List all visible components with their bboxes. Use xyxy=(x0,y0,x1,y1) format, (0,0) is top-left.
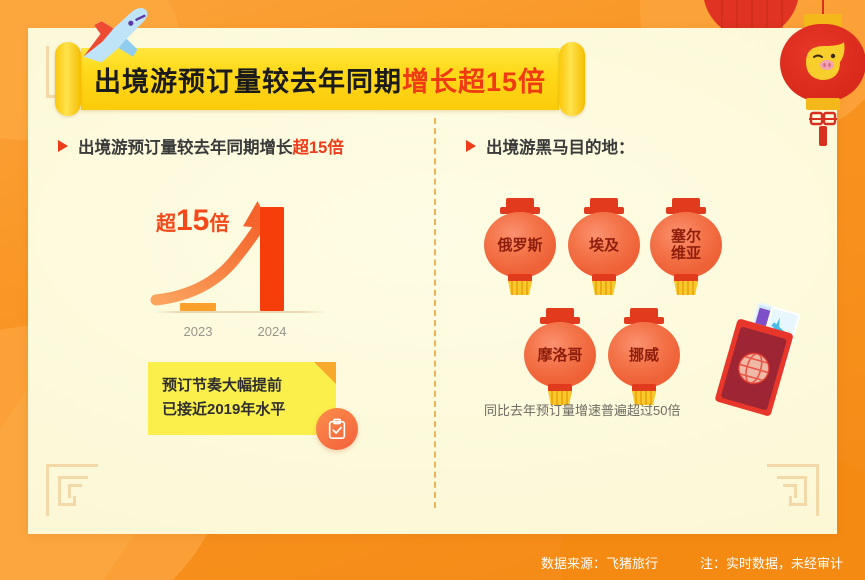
note-line-1: 预订节奏大幅提前 xyxy=(162,374,326,398)
note-line-2: 已接近2019年水平 xyxy=(162,398,326,422)
footer-source: 数据来源：飞猪旅行 xyxy=(541,553,658,572)
pig-mascot-icon xyxy=(800,40,850,84)
infographic-canvas: 出境游预订量较去年同期增长超15倍 xyxy=(0,0,865,580)
lantern-body: 埃及 xyxy=(568,212,640,278)
panel-divider xyxy=(434,118,436,508)
destination-label: 挪威 xyxy=(629,347,659,364)
corner-fret-ornament-icon xyxy=(757,454,819,516)
lantern-wire xyxy=(822,0,824,14)
lantern-base xyxy=(548,384,572,392)
chart-baseline xyxy=(154,311,326,313)
lantern-body: 俄罗斯 xyxy=(484,212,556,278)
title-text-black: 出境游预订量较去年同期 xyxy=(94,60,402,99)
corner-fret-ornament-icon xyxy=(46,454,108,516)
lantern-tassel xyxy=(819,126,827,146)
growth-annotation: 超15倍 xyxy=(156,206,229,236)
growth-bar-chart: 超15倍 2023 2024 xyxy=(150,196,330,341)
section-header-text: 出境游预订量较去年同期增长超15倍 xyxy=(78,134,344,158)
banner-roll-right xyxy=(559,42,585,116)
lantern-fringe xyxy=(674,281,698,295)
section-header-growth: 出境游预订量较去年同期增长超15倍 xyxy=(58,134,344,158)
xtick-label-2023: 2023 xyxy=(170,324,226,339)
section-header-text: 出境游黑马目的地： xyxy=(486,134,635,158)
lantern-body: 摩洛哥 xyxy=(524,322,596,388)
destination-label: 塞尔 维亚 xyxy=(671,228,701,262)
xtick-label-2024: 2024 xyxy=(244,324,300,339)
lantern-base xyxy=(674,274,698,282)
bar-2023 xyxy=(180,303,216,311)
destination-label: 埃及 xyxy=(589,237,619,254)
bar-2024 xyxy=(260,207,284,311)
destination-label: 俄罗斯 xyxy=(497,237,542,254)
section-header-destinations: 出境游黑马目的地： xyxy=(466,134,635,158)
note-text: 预订节奏大幅提前 已接近2019年水平 xyxy=(162,374,326,422)
destination-label: 摩洛哥 xyxy=(537,347,582,364)
lantern-base xyxy=(806,98,840,110)
clipboard-check-icon xyxy=(316,408,358,450)
lantern-body: 塞尔 维亚 xyxy=(650,212,722,278)
pig-mascot-lantern xyxy=(780,10,865,140)
footer-note: 注：实时数据，未经审计 xyxy=(700,553,843,572)
booking-pace-note: 预订节奏大幅提前 已接近2019年水平 xyxy=(148,362,336,435)
triangle-bullet-icon xyxy=(58,140,68,152)
title-text-highlight: 增长超15倍 xyxy=(402,60,546,99)
lantern-base xyxy=(592,274,616,282)
passport-tickets-icon xyxy=(700,300,820,430)
footer-bar: 数据来源：飞猪旅行 注：实时数据，未经审计 xyxy=(0,553,865,572)
lantern-base xyxy=(632,384,656,392)
lantern-fringe xyxy=(592,281,616,295)
triangle-bullet-icon xyxy=(466,140,476,152)
lantern-fringe xyxy=(508,281,532,295)
lantern-body: 挪威 xyxy=(608,322,680,388)
destinations-caption: 同比去年预订量增速普遍超过50倍 xyxy=(484,400,680,419)
lantern-base xyxy=(508,274,532,282)
